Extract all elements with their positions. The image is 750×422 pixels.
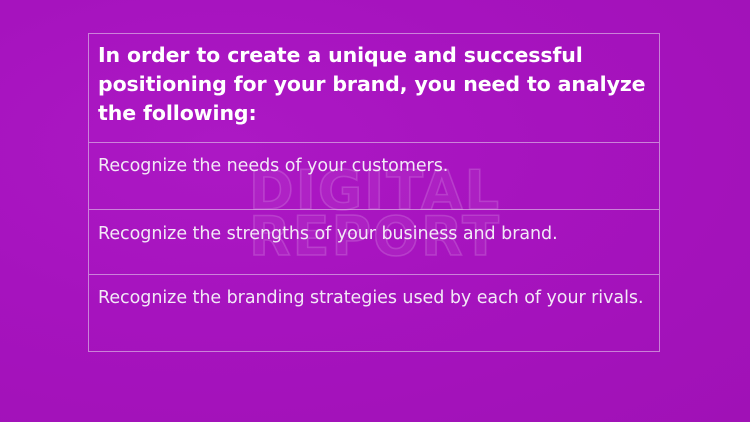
table-header-text: In order to create a unique and successf… [98,41,650,128]
table-row: Recognize the strengths of your business… [89,210,659,275]
table-row: Recognize the branding strategies used b… [89,275,659,351]
table-header-row: In order to create a unique and successf… [89,34,659,143]
content-table: In order to create a unique and successf… [88,33,660,352]
slide-canvas: DIGITAL REPORT In order to create a uniq… [0,0,750,422]
table-row-text: Recognize the strengths of your business… [98,222,558,248]
table-row-text: Recognize the needs of your customers. [98,154,448,180]
table-row-text: Recognize the branding strategies used b… [98,286,644,312]
table-row: Recognize the needs of your customers. [89,143,659,210]
